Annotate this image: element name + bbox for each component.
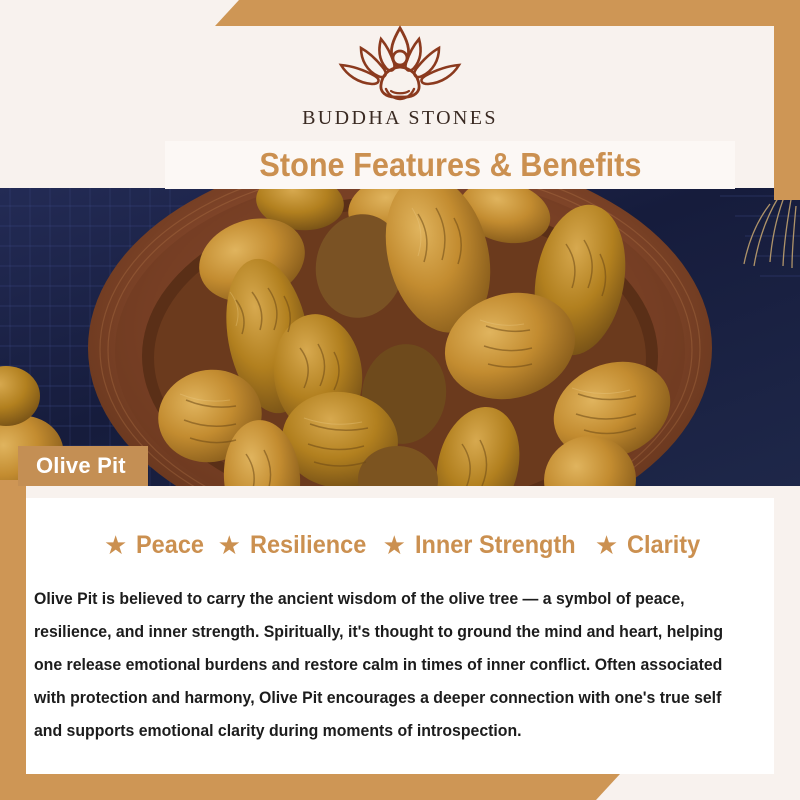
infographic-page: BUDDHA STONES Stone Features & Benefits <box>0 0 800 800</box>
lotus-meditation-figure-icon <box>325 18 475 104</box>
decorative-frame-left <box>0 480 26 800</box>
keyword-item-inner-strength: ★ Inner Strength <box>374 531 586 560</box>
keyword-label: Clarity <box>627 531 700 560</box>
keyword-item-resilience: ★ Resilience <box>209 531 374 560</box>
stone-name-badge: Olive Pit <box>18 446 148 486</box>
star-icon: ★ <box>104 532 127 558</box>
star-icon: ★ <box>383 532 406 558</box>
stone-description: Olive Pit is believed to carry the ancie… <box>34 583 739 748</box>
star-icon: ★ <box>595 532 618 558</box>
stone-name-label: Olive Pit <box>36 453 126 479</box>
brand-logo: BUDDHA STONES <box>0 18 800 140</box>
olive-pits-photo <box>0 188 800 486</box>
keyword-label: Peace <box>136 531 204 560</box>
brand-name: BUDDHA STONES <box>302 107 498 130</box>
hero-image <box>0 188 800 486</box>
page-title: Stone Features & Benefits <box>259 146 641 184</box>
keyword-item-peace: ★ Peace <box>95 531 209 560</box>
keyword-list: ★ Peace ★ Resilience ★ Inner Strength ★ … <box>26 531 774 560</box>
decorative-frame-bottom <box>0 774 620 800</box>
keyword-label: Inner Strength <box>415 531 576 560</box>
keyword-item-clarity: ★ Clarity <box>586 531 705 560</box>
panel-top-strip <box>26 486 774 498</box>
star-icon: ★ <box>218 532 241 558</box>
keyword-label: Resilience <box>250 531 366 560</box>
header-title-band: Stone Features & Benefits <box>165 141 735 189</box>
